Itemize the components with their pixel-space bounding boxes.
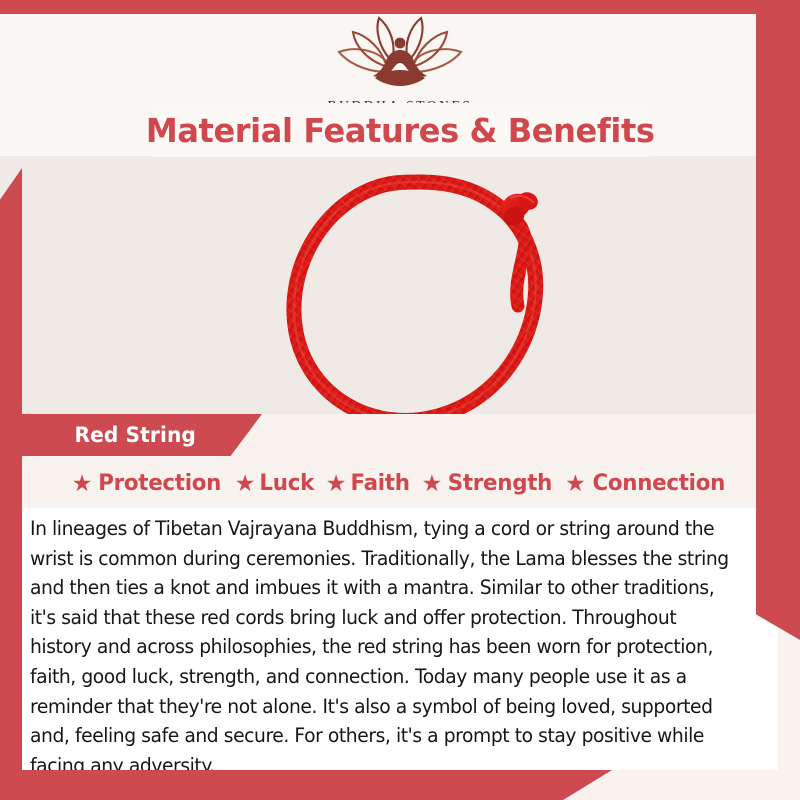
benefit-item-faith: ★ Faith bbox=[321, 470, 417, 496]
star-icon: ★ bbox=[235, 472, 256, 495]
lotus-meditation-figure-icon bbox=[325, 16, 475, 96]
benefit-label: Strength bbox=[448, 470, 552, 496]
star-icon: ★ bbox=[565, 472, 586, 495]
star-icon: ★ bbox=[72, 472, 93, 495]
frame-left-bar bbox=[0, 168, 22, 800]
benefit-item-connection: ★ Connection bbox=[560, 470, 733, 496]
page-title: Material Features & Benefits bbox=[146, 111, 655, 150]
material-label-text: Red String bbox=[75, 423, 196, 447]
benefit-label: Connection bbox=[592, 470, 725, 496]
title-banner: Material Features & Benefits bbox=[152, 103, 649, 157]
description-paragraph: In lineages of Tibetan Vajrayana Buddhis… bbox=[30, 514, 731, 780]
benefit-label: Faith bbox=[351, 470, 410, 496]
benefit-item-luck: ★ Luck bbox=[230, 470, 321, 496]
star-icon: ★ bbox=[422, 472, 443, 495]
brand-logo: BUDDHA STONES bbox=[0, 16, 800, 114]
description-card: In lineages of Tibetan Vajrayana Buddhis… bbox=[22, 508, 778, 770]
frame-bottom-bar bbox=[0, 770, 612, 800]
benefit-label: Luck bbox=[260, 470, 315, 496]
frame-right-bar bbox=[756, 0, 800, 640]
material-label-chip: Red String bbox=[0, 414, 262, 456]
benefits-list: ★ Protection ★ Luck ★ Faith ★ Strength ★… bbox=[0, 462, 800, 504]
benefit-label: Protection bbox=[99, 470, 222, 496]
product-photo-stage bbox=[0, 156, 800, 414]
benefit-item-strength: ★ Strength bbox=[417, 470, 560, 496]
benefit-item-protection: ★ Protection bbox=[67, 470, 230, 496]
frame-top-bar bbox=[0, 0, 800, 14]
material-features-poster: BUDDHA STONES Material Features & Benefi… bbox=[0, 0, 800, 800]
star-icon: ★ bbox=[326, 472, 347, 495]
red-string-bracelet-image bbox=[252, 156, 582, 414]
